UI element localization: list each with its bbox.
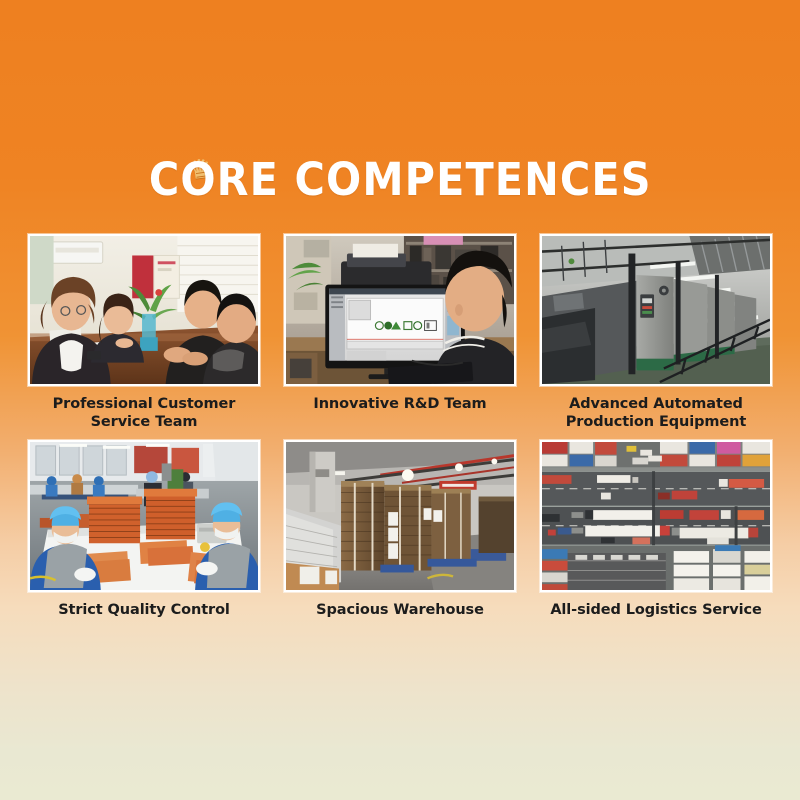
photo-frame [540, 234, 772, 386]
competence-card[interactable]: Innovative R&D Team [284, 234, 516, 431]
competence-card[interactable]: Strict Quality Control [28, 440, 260, 619]
caption-line: All-sided Logistics Service [540, 601, 772, 619]
warehouse-photo [286, 442, 514, 590]
quality-control-photo [30, 442, 258, 590]
customer-service-team-photo [30, 236, 258, 384]
card-caption: Professional Customer Service Team [28, 395, 260, 431]
card-caption: Spacious Warehouse [284, 601, 516, 619]
competence-card[interactable]: Professional Customer Service Team [28, 234, 260, 431]
photo-frame [284, 234, 516, 386]
card-caption: All-sided Logistics Service [540, 601, 772, 619]
competence-card[interactable]: Advanced Automated Production Equipment [540, 234, 772, 431]
photo-frame [28, 234, 260, 386]
page-title: CORE COMPETENCES [149, 152, 652, 208]
title-block: ♛ CORE COMPETENCES [0, 152, 800, 208]
photo-frame [28, 440, 260, 592]
caption-line: Advanced Automated [540, 395, 772, 413]
core-competences-banner: ♛ CORE COMPETENCES [0, 0, 800, 800]
caption-line: Professional Customer [28, 395, 260, 413]
card-caption: Strict Quality Control [28, 601, 260, 619]
card-caption: Advanced Automated Production Equipment [540, 395, 772, 431]
caption-line: Innovative R&D Team [284, 395, 516, 413]
competence-card-grid: Professional Customer Service Team [28, 234, 772, 628]
photo-frame [540, 440, 772, 592]
rd-team-photo [286, 236, 514, 384]
card-caption: Innovative R&D Team [284, 395, 516, 413]
caption-line: Production Equipment [540, 413, 772, 431]
caption-line: Spacious Warehouse [284, 601, 516, 619]
caption-line: Service Team [28, 413, 260, 431]
competence-card[interactable]: All-sided Logistics Service [540, 440, 772, 619]
photo-frame [284, 440, 516, 592]
logistics-service-photo [542, 442, 770, 590]
production-equipment-photo [542, 236, 770, 384]
caption-line: Strict Quality Control [28, 601, 260, 619]
competence-card[interactable]: Spacious Warehouse [284, 440, 516, 619]
